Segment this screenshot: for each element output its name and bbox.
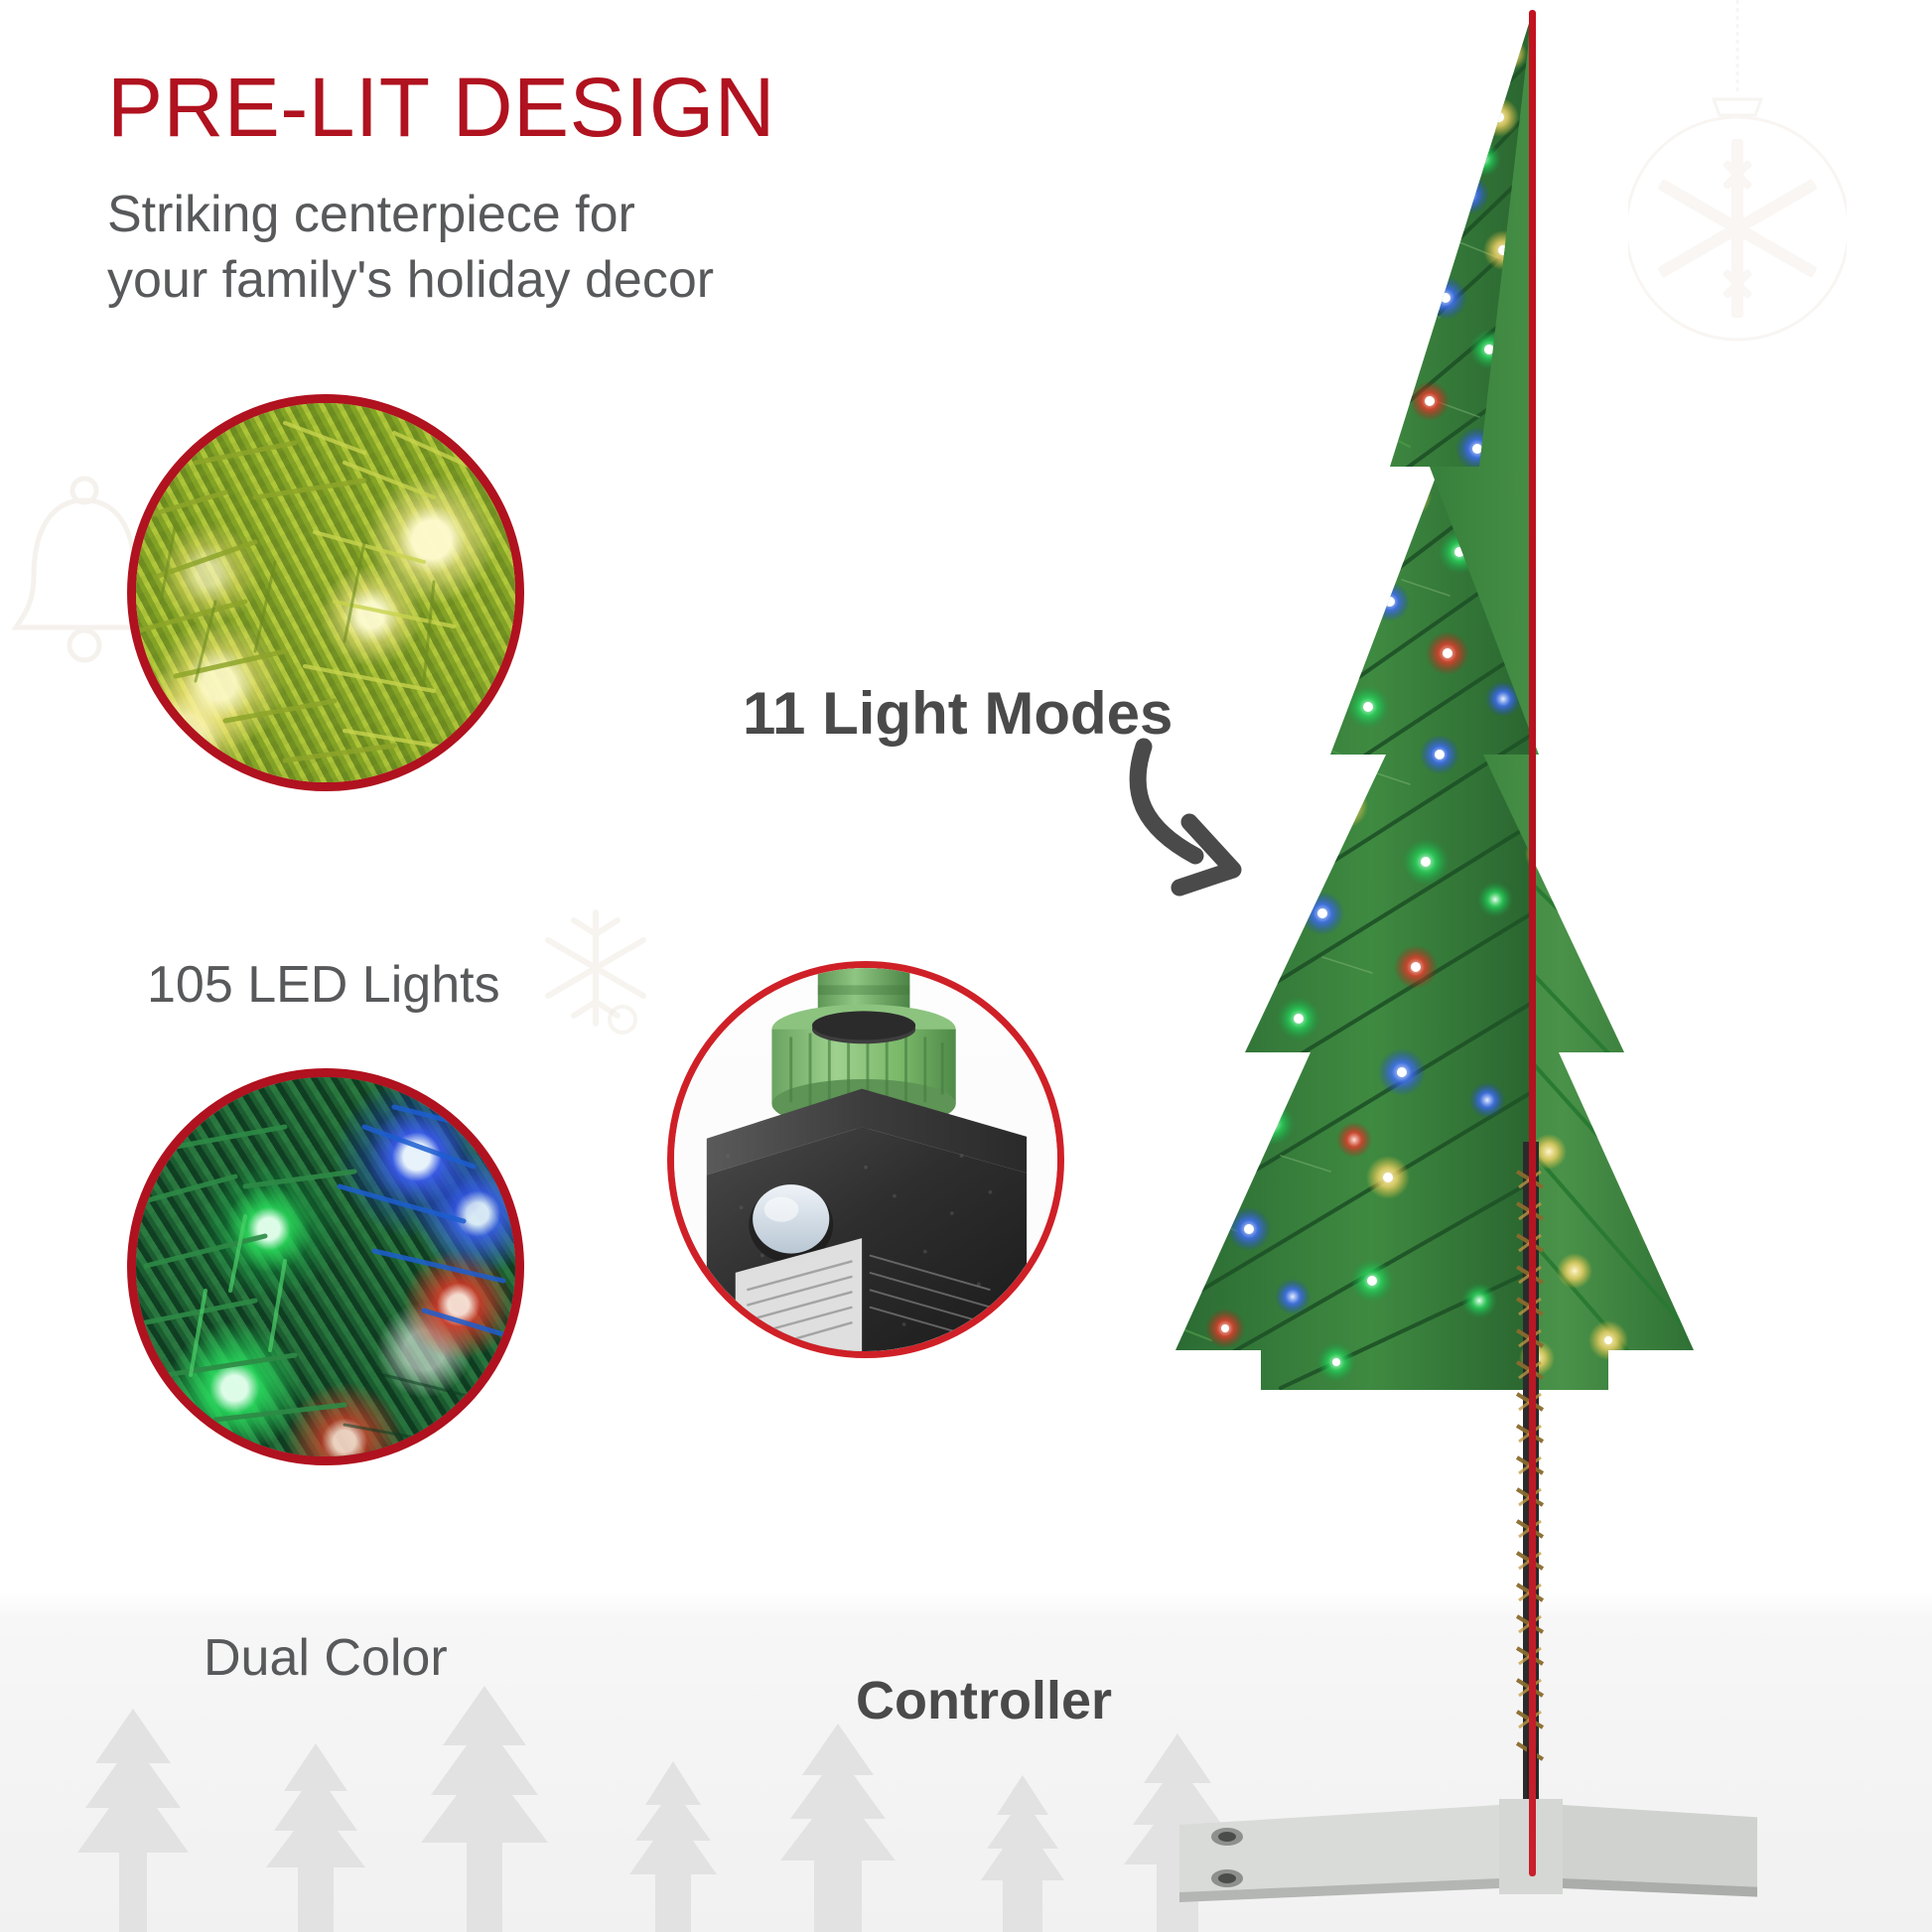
page-subtitle: Striking centerpiece for your family's h…	[107, 183, 1100, 313]
foliage-needle-overlay-warm	[136, 403, 524, 791]
metal-base-plate	[1179, 1799, 1757, 1902]
callout-caption-led-lights: 105 LED Lights	[147, 955, 500, 1015]
callout-caption-dual-color: Dual Color	[204, 1628, 448, 1688]
subtitle-line-1: Striking centerpiece for	[107, 186, 635, 243]
subtitle-line-2: your family's holiday decor	[107, 251, 714, 309]
headline-block: PRE-LIT DESIGN Striking centerpiece for …	[107, 66, 1100, 313]
light-controller-box-closeup	[674, 968, 1057, 1351]
callout-circle-led-lights	[127, 394, 524, 791]
foliage-needle-overlay-multicolor	[136, 1077, 524, 1465]
tree-foliage	[1175, 14, 1694, 1390]
snowflake-watermark	[526, 898, 665, 1037]
light-modes-label: 11 Light Modes	[743, 679, 1173, 748]
page-title: PRE-LIT DESIGN	[107, 66, 1100, 149]
callout-caption-controller: Controller	[856, 1670, 1112, 1731]
callout-circle-dual-color	[127, 1068, 524, 1465]
pre-lit-pencil-christmas-tree	[1142, 0, 1757, 1932]
product-feature-graphic: PRE-LIT DESIGN Striking centerpiece for …	[0, 0, 1932, 1932]
callout-circle-controller	[667, 961, 1064, 1358]
small-dot-watermark	[606, 1003, 639, 1036]
vertical-red-divider-line	[1529, 10, 1536, 1876]
